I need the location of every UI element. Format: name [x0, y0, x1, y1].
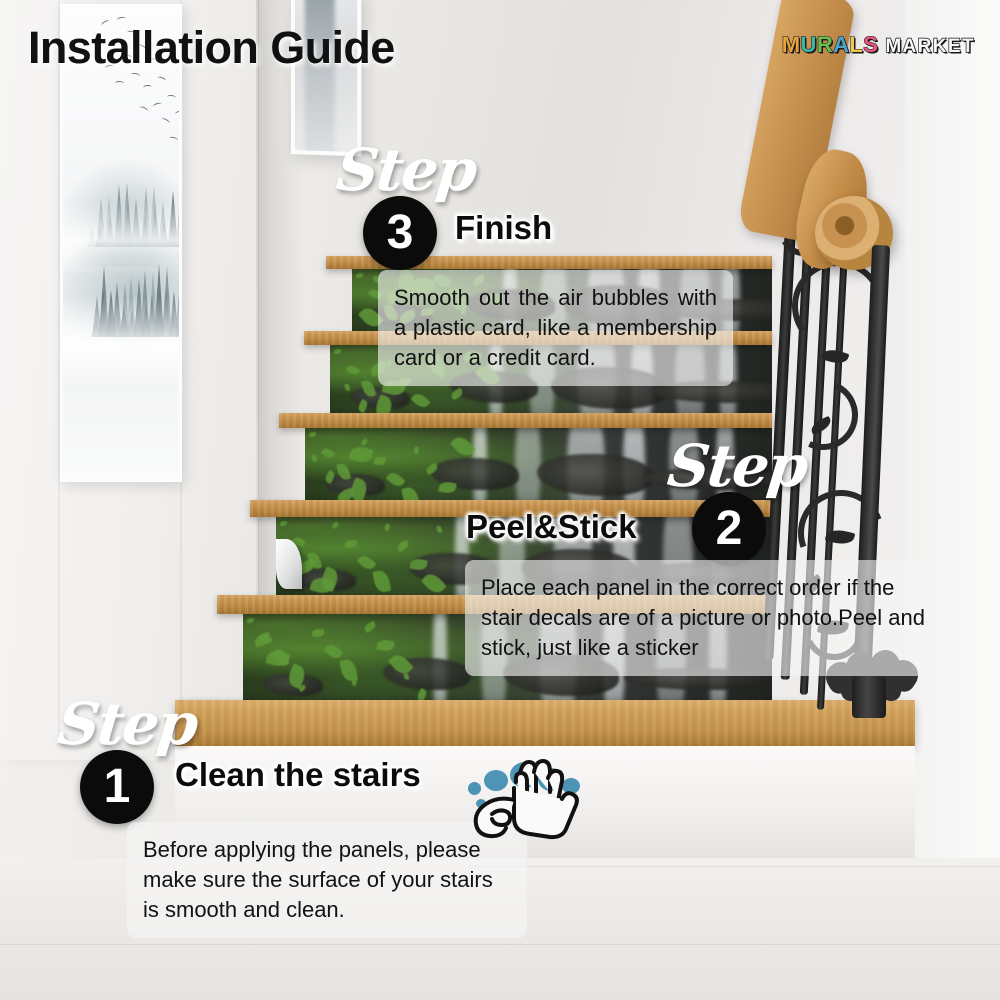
step-1-heading: Clean the stairs	[175, 756, 421, 794]
hand-wiping-cloth-icon	[462, 752, 594, 848]
step-1-circle: 1	[80, 750, 154, 824]
step-3-body: Smooth out the air bubbles with a plasti…	[378, 270, 733, 386]
step-1-word: Step	[54, 690, 199, 758]
floor-seam	[470, 866, 1000, 867]
step-3-word: Step	[333, 136, 478, 204]
mural-foliage	[356, 273, 363, 278]
mural-foliage	[280, 521, 287, 526]
installation-guide-poster: Installation Guide MURALS MARKET Step 3 …	[0, 0, 1000, 1000]
brand-letter-r: R	[817, 32, 833, 58]
brand-letter-s: S	[863, 32, 878, 58]
brand-logo-murals: MURALS	[782, 32, 879, 58]
step-2-heading: Peel&Stick	[466, 508, 637, 546]
step-3-circle: 3	[363, 196, 437, 270]
step-2-word: Step	[664, 432, 809, 500]
brand-letter-l: L	[849, 32, 863, 58]
step-1-number: 1	[104, 763, 131, 811]
newel-base-cap	[852, 676, 886, 718]
step-3-heading: Finish	[455, 209, 552, 247]
step-3-number: 3	[387, 209, 414, 257]
page-title: Installation Guide	[28, 22, 395, 74]
brand-letter-m: M	[782, 32, 801, 58]
mural-foliage	[312, 455, 317, 462]
step-2-body: Place each panel in the correct order if…	[465, 560, 955, 676]
mural-foliage	[309, 432, 316, 437]
brand-logo: MURALS MARKET	[782, 32, 975, 58]
mural-foliage	[334, 349, 341, 354]
step-2-number: 2	[716, 505, 743, 553]
brand-logo-market: MARKET	[885, 36, 975, 58]
mural-waterfall-stream	[515, 428, 541, 500]
mural-foliage	[247, 618, 254, 623]
brand-letter-u: U	[801, 32, 817, 58]
step-2-circle: 2	[692, 492, 766, 566]
stair-tread	[279, 413, 772, 428]
floor-seam	[0, 944, 1000, 945]
brand-letter-a: A	[833, 32, 849, 58]
